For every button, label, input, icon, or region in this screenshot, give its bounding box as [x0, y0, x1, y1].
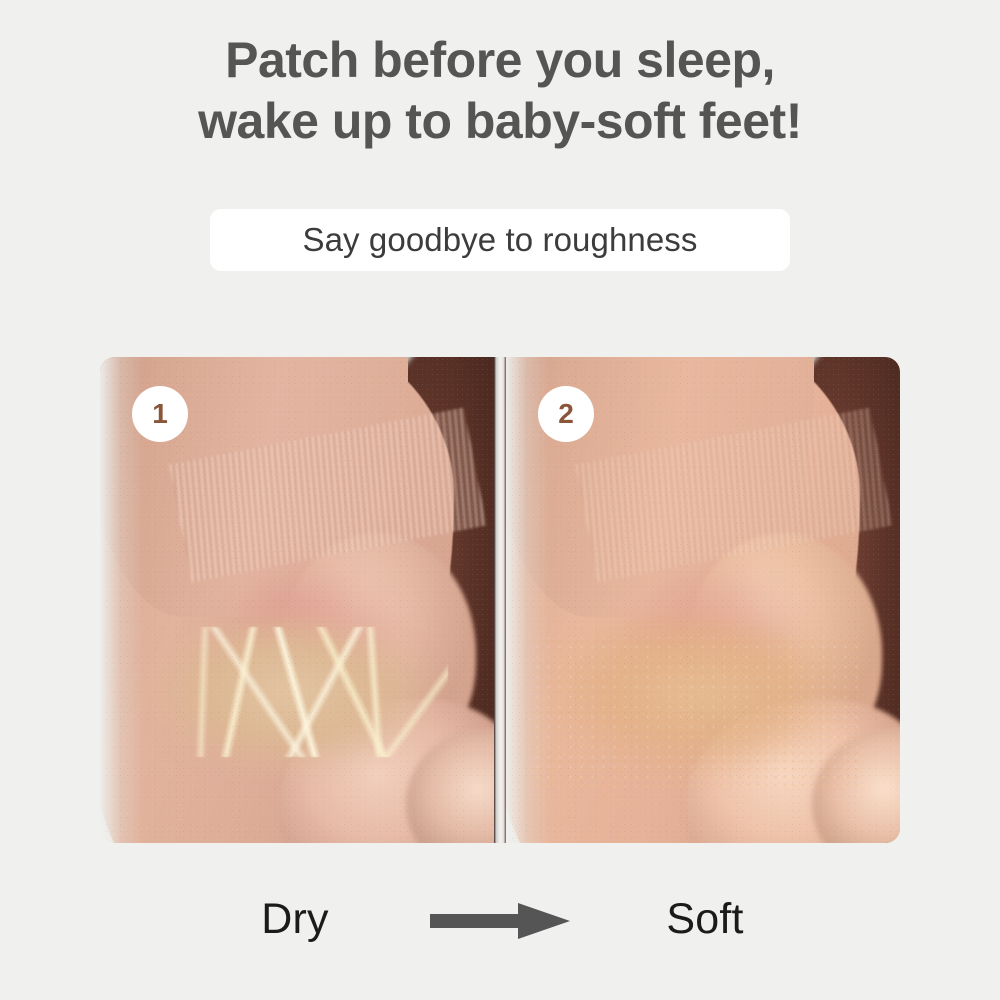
page-title: Patch before you sleep, wake up to baby-…	[0, 30, 1000, 152]
headline-line-2: wake up to baby-soft feet!	[0, 91, 1000, 152]
step-badge-1-number: 1	[152, 400, 168, 428]
step-badge-1: 1	[132, 386, 188, 442]
headline-line-1: Patch before you sleep,	[0, 30, 1000, 91]
before-photo-dry-heel: 1	[100, 357, 494, 843]
step-badge-2-number: 2	[558, 400, 574, 428]
photo-divider	[494, 357, 506, 843]
subtitle-text: Say goodbye to roughness	[302, 221, 697, 259]
arrow-right-icon	[430, 903, 570, 939]
after-photo-soft-heel: 2	[506, 357, 900, 843]
before-after-comparison: 1 2	[100, 357, 900, 843]
promo-page: { "background_color": "#f0f0ef", "headli…	[0, 0, 1000, 1000]
after-label: Soft	[625, 876, 785, 962]
step-badge-2: 2	[538, 386, 594, 442]
caption-row: Dry Soft	[100, 876, 900, 962]
before-label: Dry	[215, 876, 375, 962]
subtitle-pill: Say goodbye to roughness	[210, 209, 790, 271]
